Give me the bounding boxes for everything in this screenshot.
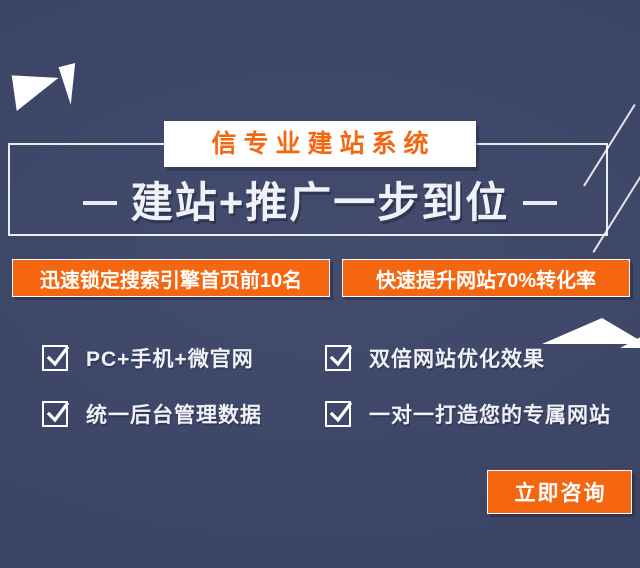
highlight-badge-search-ranking: 迅速锁定搜索引擎首页前10名 bbox=[12, 259, 330, 297]
feature-item-double-seo-effect: 双倍网站优化效果 bbox=[310, 330, 640, 386]
paper-plane-wing-icon bbox=[55, 61, 75, 104]
subtitle-text: 信专业建站系统 bbox=[204, 132, 435, 157]
paper-plane-icon bbox=[12, 69, 63, 111]
checkbox-checked-icon bbox=[42, 345, 68, 371]
feature-list: PC+手机+微官网 双倍网站优化效果 bbox=[0, 330, 640, 442]
consult-now-label: 立即咨询 bbox=[513, 477, 607, 507]
feature-label: 统一后台管理数据 bbox=[86, 399, 262, 429]
feature-item-one-on-one-custom: 一对一打造您的专属网站 bbox=[310, 386, 640, 442]
feature-item-unified-backend: 统一后台管理数据 bbox=[0, 386, 310, 442]
feature-label: PC+手机+微官网 bbox=[86, 343, 254, 373]
feature-row: 统一后台管理数据 一对一打造您的专属网站 bbox=[0, 386, 640, 442]
feature-row: PC+手机+微官网 双倍网站优化效果 bbox=[0, 330, 640, 386]
headline-dash-left bbox=[83, 201, 117, 205]
checkbox-checked-icon bbox=[325, 345, 351, 371]
highlight-badge-conversion-rate: 快速提升网站70%转化率 bbox=[342, 259, 630, 297]
subtitle-box: 信专业建站系统 bbox=[164, 121, 476, 167]
headline-dash-right bbox=[523, 201, 557, 205]
feature-label: 双倍网站优化效果 bbox=[369, 343, 545, 373]
headline-row: 建站+推广一步到位 bbox=[0, 182, 640, 224]
consult-now-button[interactable]: 立即咨询 bbox=[487, 470, 632, 514]
feature-item-pc-mobile-wechat: PC+手机+微官网 bbox=[0, 330, 310, 386]
checkbox-checked-icon bbox=[325, 401, 351, 427]
checkbox-checked-icon bbox=[42, 401, 68, 427]
promo-banner: 信专业建站系统 建站+推广一步到位 迅速锁定搜索引擎首页前10名 快速提升网站7… bbox=[0, 0, 640, 568]
feature-label: 一对一打造您的专属网站 bbox=[369, 399, 611, 429]
page-title: 建站+推广一步到位 bbox=[131, 182, 510, 224]
